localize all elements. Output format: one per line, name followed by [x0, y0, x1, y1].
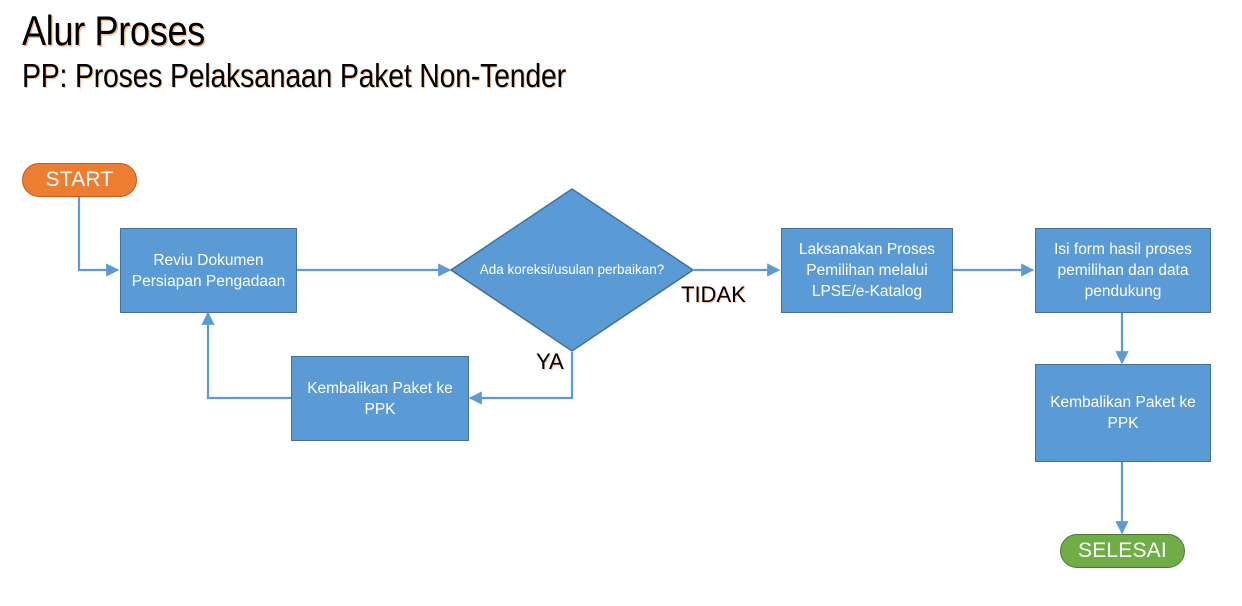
node-reviu-dokumen[interactable]: Reviu Dokumen Persiapan Pengadaan — [120, 228, 297, 313]
branch-label-tidak: TIDAK — [681, 283, 746, 307]
edge-kembali1-to-reviu — [208, 313, 291, 398]
flowchart-diagram: START Reviu Dokumen Persiapan Pengadaan … — [0, 0, 1242, 606]
edge-start-to-reviu — [79, 196, 118, 270]
node-kembalikan-paket-1[interactable]: Kembalikan Paket ke PPK — [291, 356, 469, 441]
node-isi-form[interactable]: Isi form hasil proses pemilihan dan data… — [1035, 228, 1211, 313]
diamond-shape — [450, 188, 694, 352]
node-selesai[interactable]: SELESAI — [1060, 534, 1185, 568]
branch-label-ya: YA — [536, 350, 564, 374]
node-start[interactable]: START — [22, 163, 137, 197]
node-laksanakan-pemilihan[interactable]: Laksanakan Proses Pemilihan melalui LPSE… — [781, 228, 953, 313]
node-decision-koreksi[interactable]: Ada koreksi/usulan perbaikan? — [450, 188, 694, 352]
node-kembalikan-paket-2[interactable]: Kembalikan Paket ke PPK — [1035, 364, 1211, 462]
